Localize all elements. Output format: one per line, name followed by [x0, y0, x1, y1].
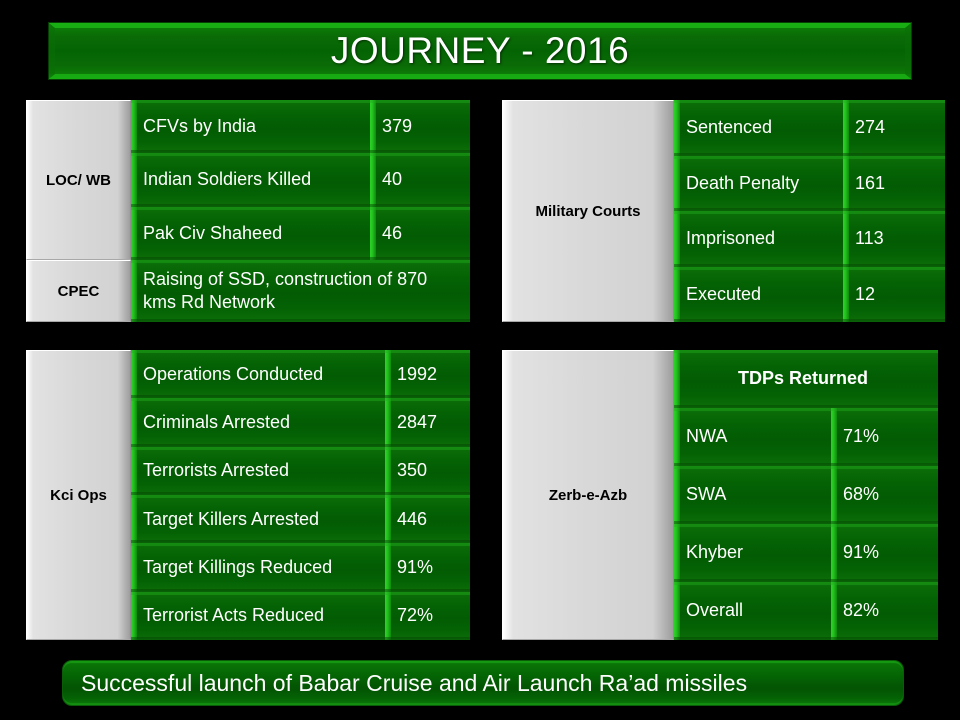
rows-loc-wb: CFVs by India 379 Indian Soldiers Killed… — [131, 100, 470, 260]
row-value: 91% — [831, 542, 885, 563]
cell-label: Criminals Arrested — [131, 398, 385, 446]
cell-value: 82% — [831, 582, 938, 640]
row-value: 71% — [831, 426, 885, 447]
table-row: NWA 71% — [674, 408, 938, 466]
row-label: CFVs by India — [131, 116, 262, 137]
title-banner: JOURNEY - 2016 — [48, 22, 912, 80]
row-value: 72% — [385, 605, 439, 626]
cell-label: Terrorist Acts Reduced — [131, 592, 385, 640]
cell-label: Terrorists Arrested — [131, 447, 385, 495]
cell-value: 72% — [385, 592, 470, 640]
row-label: Operations Conducted — [131, 364, 329, 385]
cell-label: CFVs by India — [131, 100, 370, 153]
row-value: 446 — [385, 509, 433, 530]
side-label-cpec: CPEC — [26, 260, 131, 322]
cell-label: Target Killings Reduced — [131, 543, 385, 591]
row-label: Overall — [674, 600, 749, 621]
side-label-military-courts: Military Courts — [502, 100, 674, 322]
row-label: Terrorist Acts Reduced — [131, 605, 330, 626]
row-value: 161 — [843, 173, 891, 194]
table-row: Death Penalty 161 — [674, 156, 945, 212]
row-label: Khyber — [674, 542, 749, 563]
table-row: Khyber 91% — [674, 524, 938, 582]
side-label-zerb-e-azb: Zerb-e-Azb — [502, 350, 674, 640]
row-value: 68% — [831, 484, 885, 505]
cell-value: 46 — [370, 207, 470, 260]
rows-kci-ops: Operations Conducted 1992 Criminals Arre… — [131, 350, 470, 640]
row-value: 46 — [370, 223, 408, 244]
row-label: Indian Soldiers Killed — [131, 169, 317, 190]
row-label: Death Penalty — [674, 173, 805, 194]
cell-label: NWA — [674, 408, 831, 466]
cell-value: 350 — [385, 447, 470, 495]
row-label: SWA — [674, 484, 732, 505]
cell-value: 113 — [843, 211, 945, 267]
row-label: Pak Civ Shaheed — [131, 223, 288, 244]
cell-label: Sentenced — [674, 100, 843, 156]
cell-value: 379 — [370, 100, 470, 153]
cell-label: Indian Soldiers Killed — [131, 153, 370, 206]
row-label: Terrorists Arrested — [131, 460, 295, 481]
cell-value: 161 — [843, 156, 945, 212]
block-military-courts: Military Courts Sentenced 274 Death Pena… — [502, 100, 945, 322]
cell-label: Overall — [674, 582, 831, 640]
cell-label: SWA — [674, 466, 831, 524]
row-label: Target Killers Arrested — [131, 509, 325, 530]
table-row: Executed 12 — [674, 267, 945, 323]
row-value: 12 — [843, 284, 881, 305]
row-label: NWA — [674, 426, 733, 447]
row-value: 1992 — [385, 364, 443, 385]
row-value: 113 — [843, 228, 890, 249]
page-title: JOURNEY - 2016 — [331, 30, 629, 72]
row-value: 91% — [385, 557, 439, 578]
cell-value: 1992 — [385, 350, 470, 398]
row-value: 350 — [385, 460, 433, 481]
row-value: 2847 — [385, 412, 443, 433]
cell-value: 2847 — [385, 398, 470, 446]
cell-label: Pak Civ Shaheed — [131, 207, 370, 260]
rows-military-courts: Sentenced 274 Death Penalty 161 Imprison… — [674, 100, 945, 322]
row-value: 379 — [370, 116, 418, 137]
cell-value: 274 — [843, 100, 945, 156]
cell-value: 12 — [843, 267, 945, 323]
side-label-kci-ops: Kci Ops — [26, 350, 131, 640]
table-row: Sentenced 274 — [674, 100, 945, 156]
table-row: CFVs by India 379 — [131, 100, 470, 153]
table-row: Terrorists Arrested 350 — [131, 447, 470, 495]
table-row: Terrorist Acts Reduced 72% — [131, 592, 470, 640]
row-label: Executed — [674, 284, 767, 305]
cell-label: Operations Conducted — [131, 350, 385, 398]
table-row: Indian Soldiers Killed 40 — [131, 153, 470, 206]
footer-banner: Successful launch of Babar Cruise and Ai… — [62, 660, 904, 706]
cell-header: TDPs Returned — [674, 350, 938, 408]
cell-value: 91% — [831, 524, 938, 582]
tdps-returned-header: TDPs Returned — [738, 368, 874, 389]
table-row: Imprisoned 113 — [674, 211, 945, 267]
table-row: Criminals Arrested 2847 — [131, 398, 470, 446]
block-kci-ops: Kci Ops Operations Conducted 1992 Crimin… — [26, 350, 470, 640]
table-row: Target Killers Arrested 446 — [131, 495, 470, 543]
cell-label: Khyber — [674, 524, 831, 582]
row-label: Imprisoned — [674, 228, 781, 249]
cell-value: 68% — [831, 466, 938, 524]
block-loc-wb-cpec: LOC/ WB CFVs by India 379 Indian Soldier… — [26, 100, 470, 322]
table-row: SWA 68% — [674, 466, 938, 524]
block-zerb-e-azb: Zerb-e-Azb TDPs Returned NWA 71% SWA — [502, 350, 938, 640]
table-row: Overall 82% — [674, 582, 938, 640]
cpec-text: Raising of SSD, construction of 870 kms … — [131, 268, 470, 314]
cell-value: 446 — [385, 495, 470, 543]
cell-label: Death Penalty — [674, 156, 843, 212]
row-label: Target Killings Reduced — [131, 557, 338, 578]
side-label-loc-wb: LOC/ WB — [26, 100, 131, 260]
cell-label: Executed — [674, 267, 843, 323]
row-value: 274 — [843, 117, 891, 138]
footer-text: Successful launch of Babar Cruise and Ai… — [63, 670, 747, 697]
row-value: 82% — [831, 600, 885, 621]
row-label: Sentenced — [674, 117, 778, 138]
cell-label: Imprisoned — [674, 211, 843, 267]
table-row: Operations Conducted 1992 — [131, 350, 470, 398]
cell-cpec-text: Raising of SSD, construction of 870 kms … — [131, 260, 470, 322]
cell-value: 71% — [831, 408, 938, 466]
row-value: 40 — [370, 169, 408, 190]
slide-canvas: JOURNEY - 2016 LOC/ WB CFVs by India 379… — [0, 0, 960, 720]
table-row: Pak Civ Shaheed 46 — [131, 207, 470, 260]
table-header-row: TDPs Returned — [674, 350, 938, 408]
table-row: Target Killings Reduced 91% — [131, 543, 470, 591]
cell-value: 91% — [385, 543, 470, 591]
row-label: Criminals Arrested — [131, 412, 296, 433]
rows-zerb-e-azb: TDPs Returned NWA 71% SWA 68% — [674, 350, 938, 640]
cell-value: 40 — [370, 153, 470, 206]
cell-label: Target Killers Arrested — [131, 495, 385, 543]
